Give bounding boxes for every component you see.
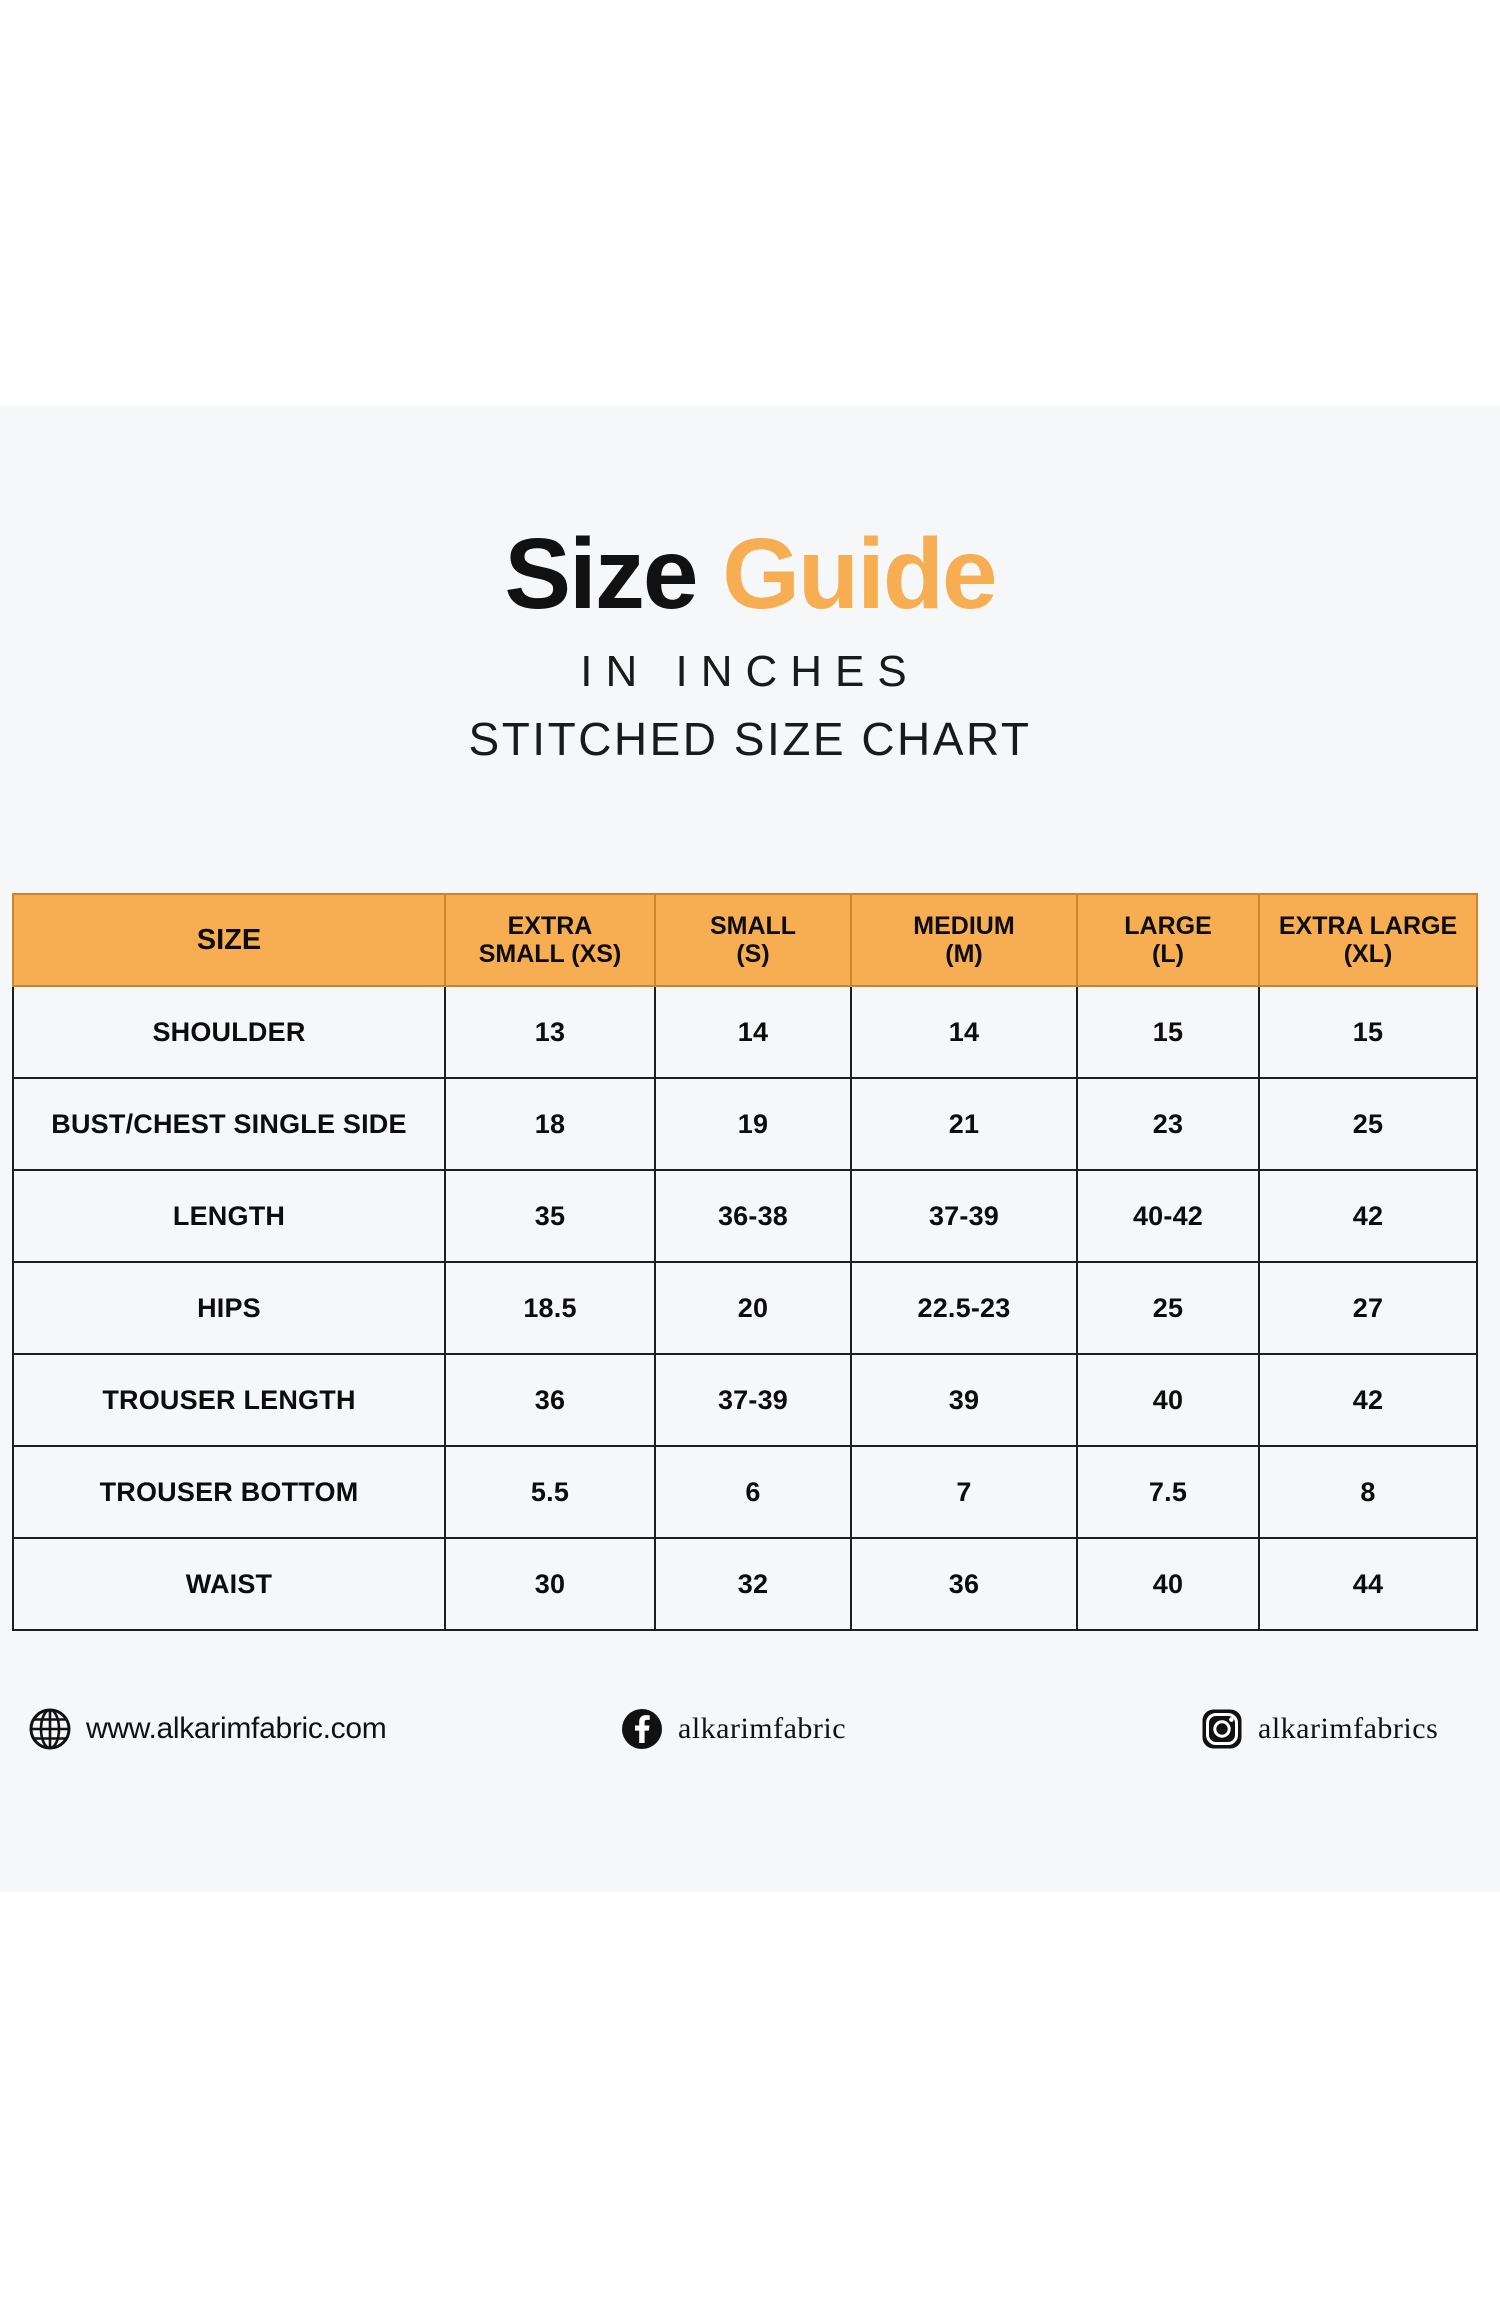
cell-hips-xs: 18.5 <box>445 1262 655 1354</box>
cell-bust-l: 23 <box>1077 1078 1259 1170</box>
cell-hips-l: 25 <box>1077 1262 1259 1354</box>
column-header-size: SIZE <box>13 894 445 986</box>
table-header-row: SIZE EXTRA SMALL (XS) SMALL (S) MEDIUM (… <box>13 894 1477 986</box>
cell-length-xs: 35 <box>445 1170 655 1262</box>
row-label-waist: WAIST <box>13 1538 445 1630</box>
column-header-l: LARGE (L) <box>1077 894 1259 986</box>
size-guide-card: Size Guide IN INCHES STITCHED SIZE CHART… <box>0 406 1500 1892</box>
cell-trouser-length-xl: 42 <box>1259 1354 1477 1446</box>
column-header-s-line2: (S) <box>657 940 849 968</box>
column-header-xl-line2: (XL) <box>1261 940 1475 968</box>
cell-trouser-length-l: 40 <box>1077 1354 1259 1446</box>
column-header-xl: EXTRA LARGE (XL) <box>1259 894 1477 986</box>
cell-trouser-length-xs: 36 <box>445 1354 655 1446</box>
cell-hips-m: 22.5-23 <box>851 1262 1077 1354</box>
footer-website-label: www.alkarimfabric.com <box>86 1714 386 1744</box>
column-header-xs-line2: SMALL (XS) <box>447 940 653 968</box>
footer-instagram-label: alkarimfabrics <box>1258 1714 1438 1744</box>
cell-waist-xs: 30 <box>445 1538 655 1630</box>
column-header-l-line1: LARGE <box>1079 912 1257 940</box>
cell-bust-m: 21 <box>851 1078 1077 1170</box>
title-word-guide: Guide <box>722 518 995 630</box>
cell-shoulder-l: 15 <box>1077 986 1259 1078</box>
cell-trouser-length-m: 39 <box>851 1354 1077 1446</box>
table-row: BUST/CHEST SINGLE SIDE 18 19 21 23 25 <box>13 1078 1477 1170</box>
cell-shoulder-m: 14 <box>851 986 1077 1078</box>
title-block: Size Guide IN INCHES STITCHED SIZE CHART <box>0 406 1500 762</box>
footer-instagram-link[interactable]: alkarimfabrics <box>1200 1707 1438 1751</box>
column-header-m: MEDIUM (M) <box>851 894 1077 986</box>
subtitle-chart-type: STITCHED SIZE CHART <box>0 716 1500 762</box>
instagram-icon <box>1200 1707 1244 1751</box>
cell-length-l: 40-42 <box>1077 1170 1259 1262</box>
column-header-xs-line1: EXTRA <box>447 912 653 940</box>
cell-shoulder-xl: 15 <box>1259 986 1477 1078</box>
cell-bust-xs: 18 <box>445 1078 655 1170</box>
footer-facebook-link[interactable]: alkarimfabric <box>620 1707 846 1751</box>
cell-waist-xl: 44 <box>1259 1538 1477 1630</box>
globe-icon <box>28 1707 72 1751</box>
cell-trouser-bottom-m: 7 <box>851 1446 1077 1538</box>
subtitle-units: IN INCHES <box>0 650 1500 694</box>
column-header-m-line2: (M) <box>853 940 1075 968</box>
table-row: TROUSER LENGTH 36 37-39 39 40 42 <box>13 1354 1477 1446</box>
row-label-shoulder: SHOULDER <box>13 986 445 1078</box>
cell-length-m: 37-39 <box>851 1170 1077 1262</box>
column-header-l-line2: (L) <box>1079 940 1257 968</box>
cell-hips-s: 20 <box>655 1262 851 1354</box>
facebook-icon <box>620 1707 664 1751</box>
table-row: SHOULDER 13 14 14 15 15 <box>13 986 1477 1078</box>
cell-trouser-bottom-l: 7.5 <box>1077 1446 1259 1538</box>
row-label-length: LENGTH <box>13 1170 445 1262</box>
title-word-size: Size <box>504 518 696 630</box>
cell-waist-s: 32 <box>655 1538 851 1630</box>
table-row: TROUSER BOTTOM 5.5 6 7 7.5 8 <box>13 1446 1477 1538</box>
table-row: HIPS 18.5 20 22.5-23 25 27 <box>13 1262 1477 1354</box>
column-header-s-line1: SMALL <box>657 912 849 940</box>
footer: www.alkarimfabric.com alkarimfabric alka… <box>0 1694 1500 1764</box>
size-table-container: SIZE EXTRA SMALL (XS) SMALL (S) MEDIUM (… <box>12 893 1476 1631</box>
size-table: SIZE EXTRA SMALL (XS) SMALL (S) MEDIUM (… <box>12 893 1478 1631</box>
column-header-m-line1: MEDIUM <box>853 912 1075 940</box>
column-header-xl-line1: EXTRA LARGE <box>1261 912 1475 940</box>
cell-trouser-bottom-xs: 5.5 <box>445 1446 655 1538</box>
cell-trouser-length-s: 37-39 <box>655 1354 851 1446</box>
column-header-s: SMALL (S) <box>655 894 851 986</box>
table-row: LENGTH 35 36-38 37-39 40-42 42 <box>13 1170 1477 1262</box>
row-label-bust-chest: BUST/CHEST SINGLE SIDE <box>13 1078 445 1170</box>
row-label-hips: HIPS <box>13 1262 445 1354</box>
footer-facebook-label: alkarimfabric <box>678 1714 846 1744</box>
cell-shoulder-xs: 13 <box>445 986 655 1078</box>
cell-bust-s: 19 <box>655 1078 851 1170</box>
cell-trouser-bottom-s: 6 <box>655 1446 851 1538</box>
footer-website-link[interactable]: www.alkarimfabric.com <box>28 1707 386 1751</box>
cell-shoulder-s: 14 <box>655 986 851 1078</box>
cell-bust-xl: 25 <box>1259 1078 1477 1170</box>
cell-length-s: 36-38 <box>655 1170 851 1262</box>
row-label-trouser-length: TROUSER LENGTH <box>13 1354 445 1446</box>
column-header-xs: EXTRA SMALL (XS) <box>445 894 655 986</box>
cell-length-xl: 42 <box>1259 1170 1477 1262</box>
cell-hips-xl: 27 <box>1259 1262 1477 1354</box>
cell-waist-l: 40 <box>1077 1538 1259 1630</box>
row-label-trouser-bottom: TROUSER BOTTOM <box>13 1446 445 1538</box>
cell-waist-m: 36 <box>851 1538 1077 1630</box>
column-header-size-line1: SIZE <box>15 924 443 956</box>
cell-trouser-bottom-xl: 8 <box>1259 1446 1477 1538</box>
page-title: Size Guide <box>0 524 1500 624</box>
table-row: WAIST 30 32 36 40 44 <box>13 1538 1477 1630</box>
